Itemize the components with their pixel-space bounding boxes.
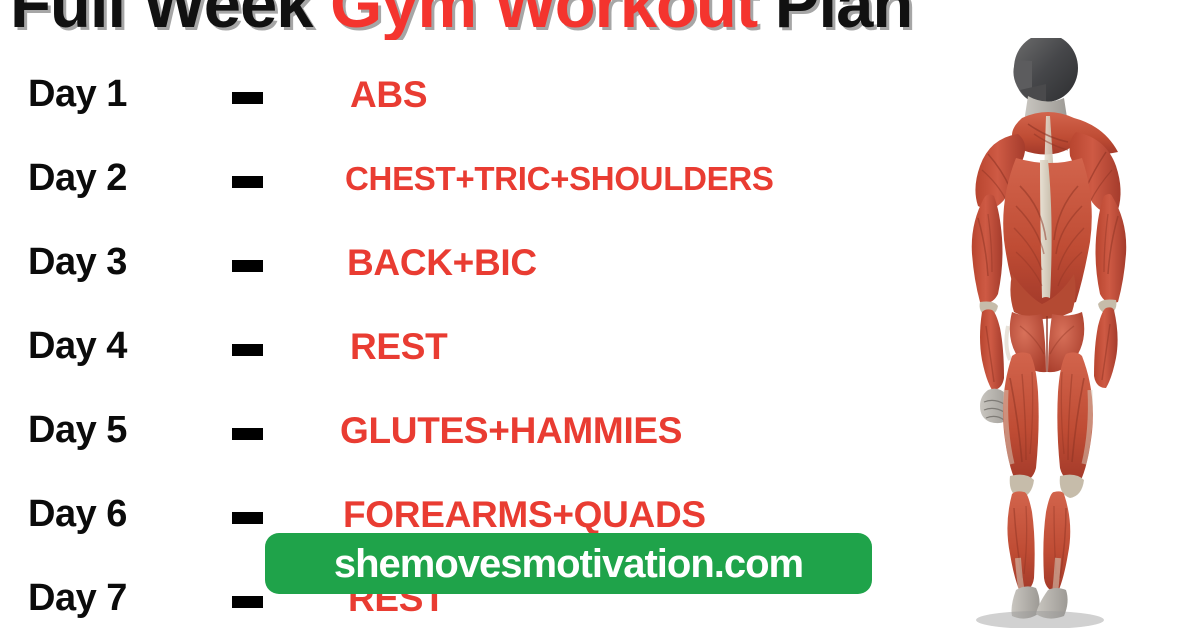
page-title: Full Week Gym Workout Plan <box>10 0 912 40</box>
page-title-part-3: Plan <box>757 0 912 40</box>
day-label: Day 6 <box>28 490 198 538</box>
page-title-part-2: Gym Workout <box>330 0 757 40</box>
muscular-anatomy-figure <box>900 38 1200 628</box>
exercise-label: GLUTES+HAMMIES <box>340 408 900 454</box>
exercise-label: BACK+BIC <box>347 240 907 286</box>
page-title-container: Full Week Gym Workout Plan <box>0 0 1200 40</box>
workout-plan-poster: Full Week Gym Workout Plan Day 1 ABS Day… <box>0 0 1200 628</box>
dash-separator-icon <box>232 344 263 356</box>
day-label: Day 5 <box>28 406 198 454</box>
exercise-label: CHEST+TRIC+SHOULDERS <box>345 156 905 202</box>
dash-separator-icon <box>232 428 263 440</box>
exercise-label: ABS <box>350 72 910 118</box>
dash-separator-icon <box>232 512 263 524</box>
watermark-badge[interactable]: shemovesmotivation.com <box>265 533 872 594</box>
dash-separator-icon <box>232 92 263 104</box>
day-label: Day 4 <box>28 322 198 370</box>
schedule-row-day-2: Day 2 CHEST+TRIC+SHOULDERS <box>0 154 900 238</box>
exercise-label: REST <box>350 324 910 370</box>
day-label: Day 2 <box>28 154 198 202</box>
schedule-row-day-5: Day 5 GLUTES+HAMMIES <box>0 406 900 490</box>
watermark-url: shemovesmotivation.com <box>334 544 803 584</box>
dash-separator-icon <box>232 596 263 608</box>
page-title-part-1: Full Week <box>10 0 330 40</box>
day-label: Day 1 <box>28 70 198 118</box>
day-label: Day 7 <box>28 574 198 622</box>
exercise-label: FOREARMS+QUADS <box>343 492 903 538</box>
schedule-row-day-4: Day 4 REST <box>0 322 900 406</box>
day-label: Day 3 <box>28 238 198 286</box>
dash-separator-icon <box>232 176 263 188</box>
schedule-row-day-3: Day 3 BACK+BIC <box>0 238 900 322</box>
dash-separator-icon <box>232 260 263 272</box>
schedule-row-day-1: Day 1 ABS <box>0 70 900 154</box>
